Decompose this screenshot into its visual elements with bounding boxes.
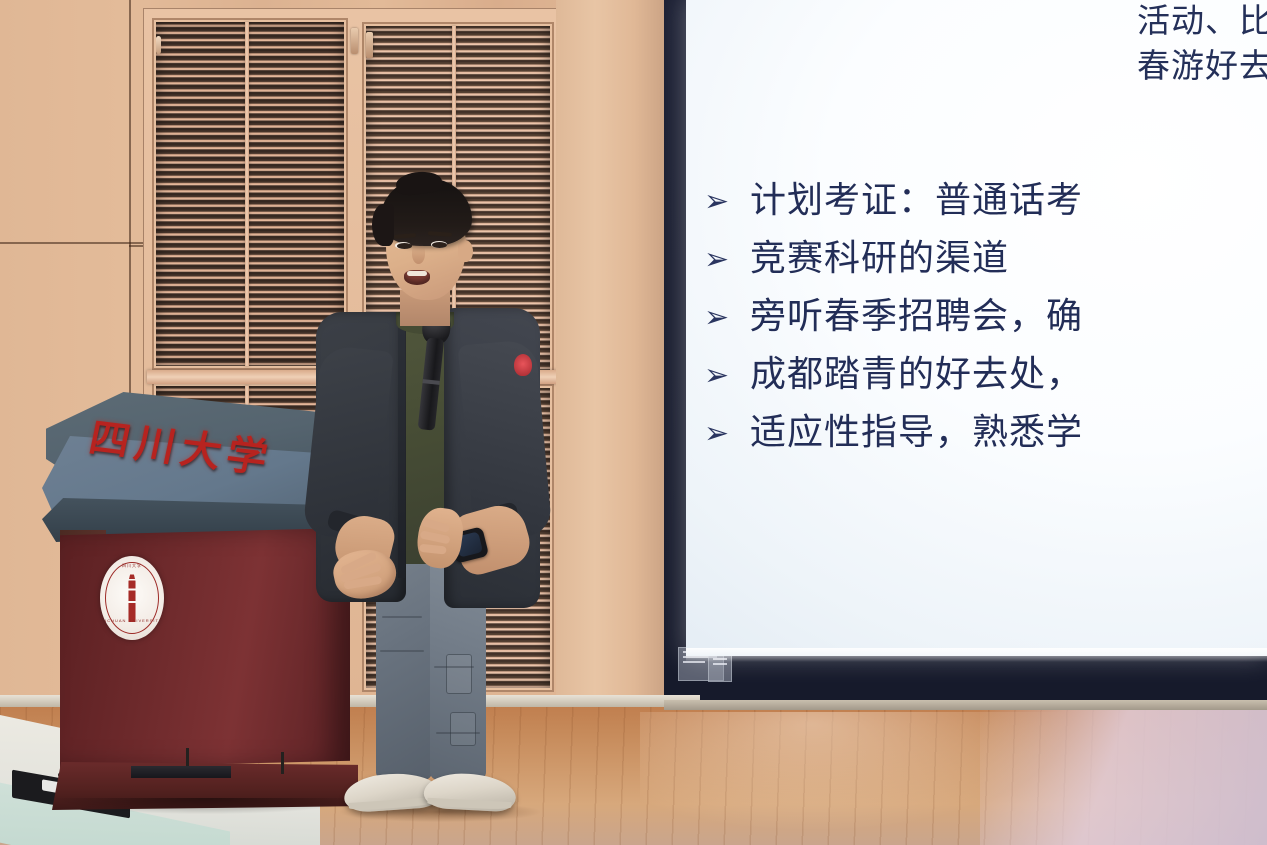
pant-fold — [436, 732, 480, 734]
bullet-arrow-icon: ➢ — [704, 361, 750, 391]
slide-bullet-item: ➢ 成都踏青的好去处， — [704, 357, 1267, 393]
bullet-arrow-icon: ➢ — [704, 245, 750, 275]
slide-bullet-list: ➢ 计划考证：普通话考 ➢ 竞赛科研的渠道 ➢ 旁听春季招聘会，确 ➢ 成都踏青… — [704, 183, 1267, 473]
lectern-shadow — [56, 798, 356, 814]
hair-sideburn — [372, 204, 394, 246]
bullet-arrow-icon: ➢ — [704, 187, 750, 217]
slide-header-line-1: 活动、比 — [1137, 0, 1267, 43]
photo-scene: 活动、比 春游好去 ➢ 计划考证：普通话考 ➢ 竞赛科研的渠道 ➢ 旁听春季招聘… — [0, 0, 1267, 845]
bullet-arrow-icon: ➢ — [704, 303, 750, 333]
slide-bullet-text: 成都踏青的好去处， — [750, 357, 1083, 393]
cargo-pocket — [446, 654, 472, 694]
window-handle[interactable] — [156, 36, 161, 54]
eye-right — [432, 242, 447, 248]
seal-top-text: 四川大学 — [100, 563, 164, 577]
floor-sheen — [640, 712, 1070, 832]
pant-fold — [380, 650, 424, 652]
university-seal-icon: 四川大学 SICHUAN UNIVERSITY — [100, 556, 164, 640]
lectern-device — [131, 766, 231, 778]
slide-header: 活动、比 春游好去 — [1137, 0, 1267, 90]
pant-fold — [382, 616, 422, 618]
gooseneck-mic-stem — [281, 752, 284, 774]
ear — [458, 240, 473, 262]
pant-fold — [434, 666, 474, 668]
window-mullion — [245, 22, 249, 366]
finger — [419, 544, 447, 555]
finger — [420, 530, 451, 544]
teeth — [407, 271, 427, 276]
slide-bullet-item: ➢ 计划考证：普通话考 — [704, 183, 1267, 219]
sleeve-emblem-patch — [514, 354, 532, 376]
window-hinge-icon — [351, 28, 358, 54]
slide-bullet-item: ➢ 旁听春季招聘会，确 — [704, 299, 1267, 335]
presenter — [300, 178, 570, 798]
slide-bullet-text: 适应性指导，熟悉学 — [750, 415, 1083, 451]
wall-seam — [0, 242, 148, 244]
seal-bottom-text: SICHUAN UNIVERSITY — [100, 618, 164, 632]
cargo-pocket — [450, 712, 476, 746]
eye-left — [397, 243, 412, 249]
stage-edge — [664, 700, 1267, 710]
slide-header-line-2: 春游好去 — [1137, 45, 1267, 88]
mouth-speaking — [404, 270, 430, 285]
nose — [412, 244, 425, 264]
slide-bullet-text: 计划考证：普通话考 — [750, 183, 1083, 219]
slide-bullet-text: 竞赛科研的渠道 — [750, 241, 1009, 277]
slide-bullet-item: ➢ 竞赛科研的渠道 — [704, 241, 1267, 277]
wall-pillar — [556, 0, 668, 745]
slide-content: 活动、比 春游好去 ➢ 计划考证：普通话考 ➢ 竞赛科研的渠道 ➢ 旁听春季招聘… — [686, 0, 1267, 660]
slide-bullet-item: ➢ 适应性指导，熟悉学 — [704, 415, 1267, 451]
slide-bullet-text: 旁听春季招聘会，确 — [750, 299, 1083, 335]
shirt-placket — [398, 328, 405, 578]
window-hinge-icon — [366, 32, 373, 58]
shoe-right — [423, 772, 517, 813]
bullet-arrow-icon: ➢ — [704, 419, 750, 449]
